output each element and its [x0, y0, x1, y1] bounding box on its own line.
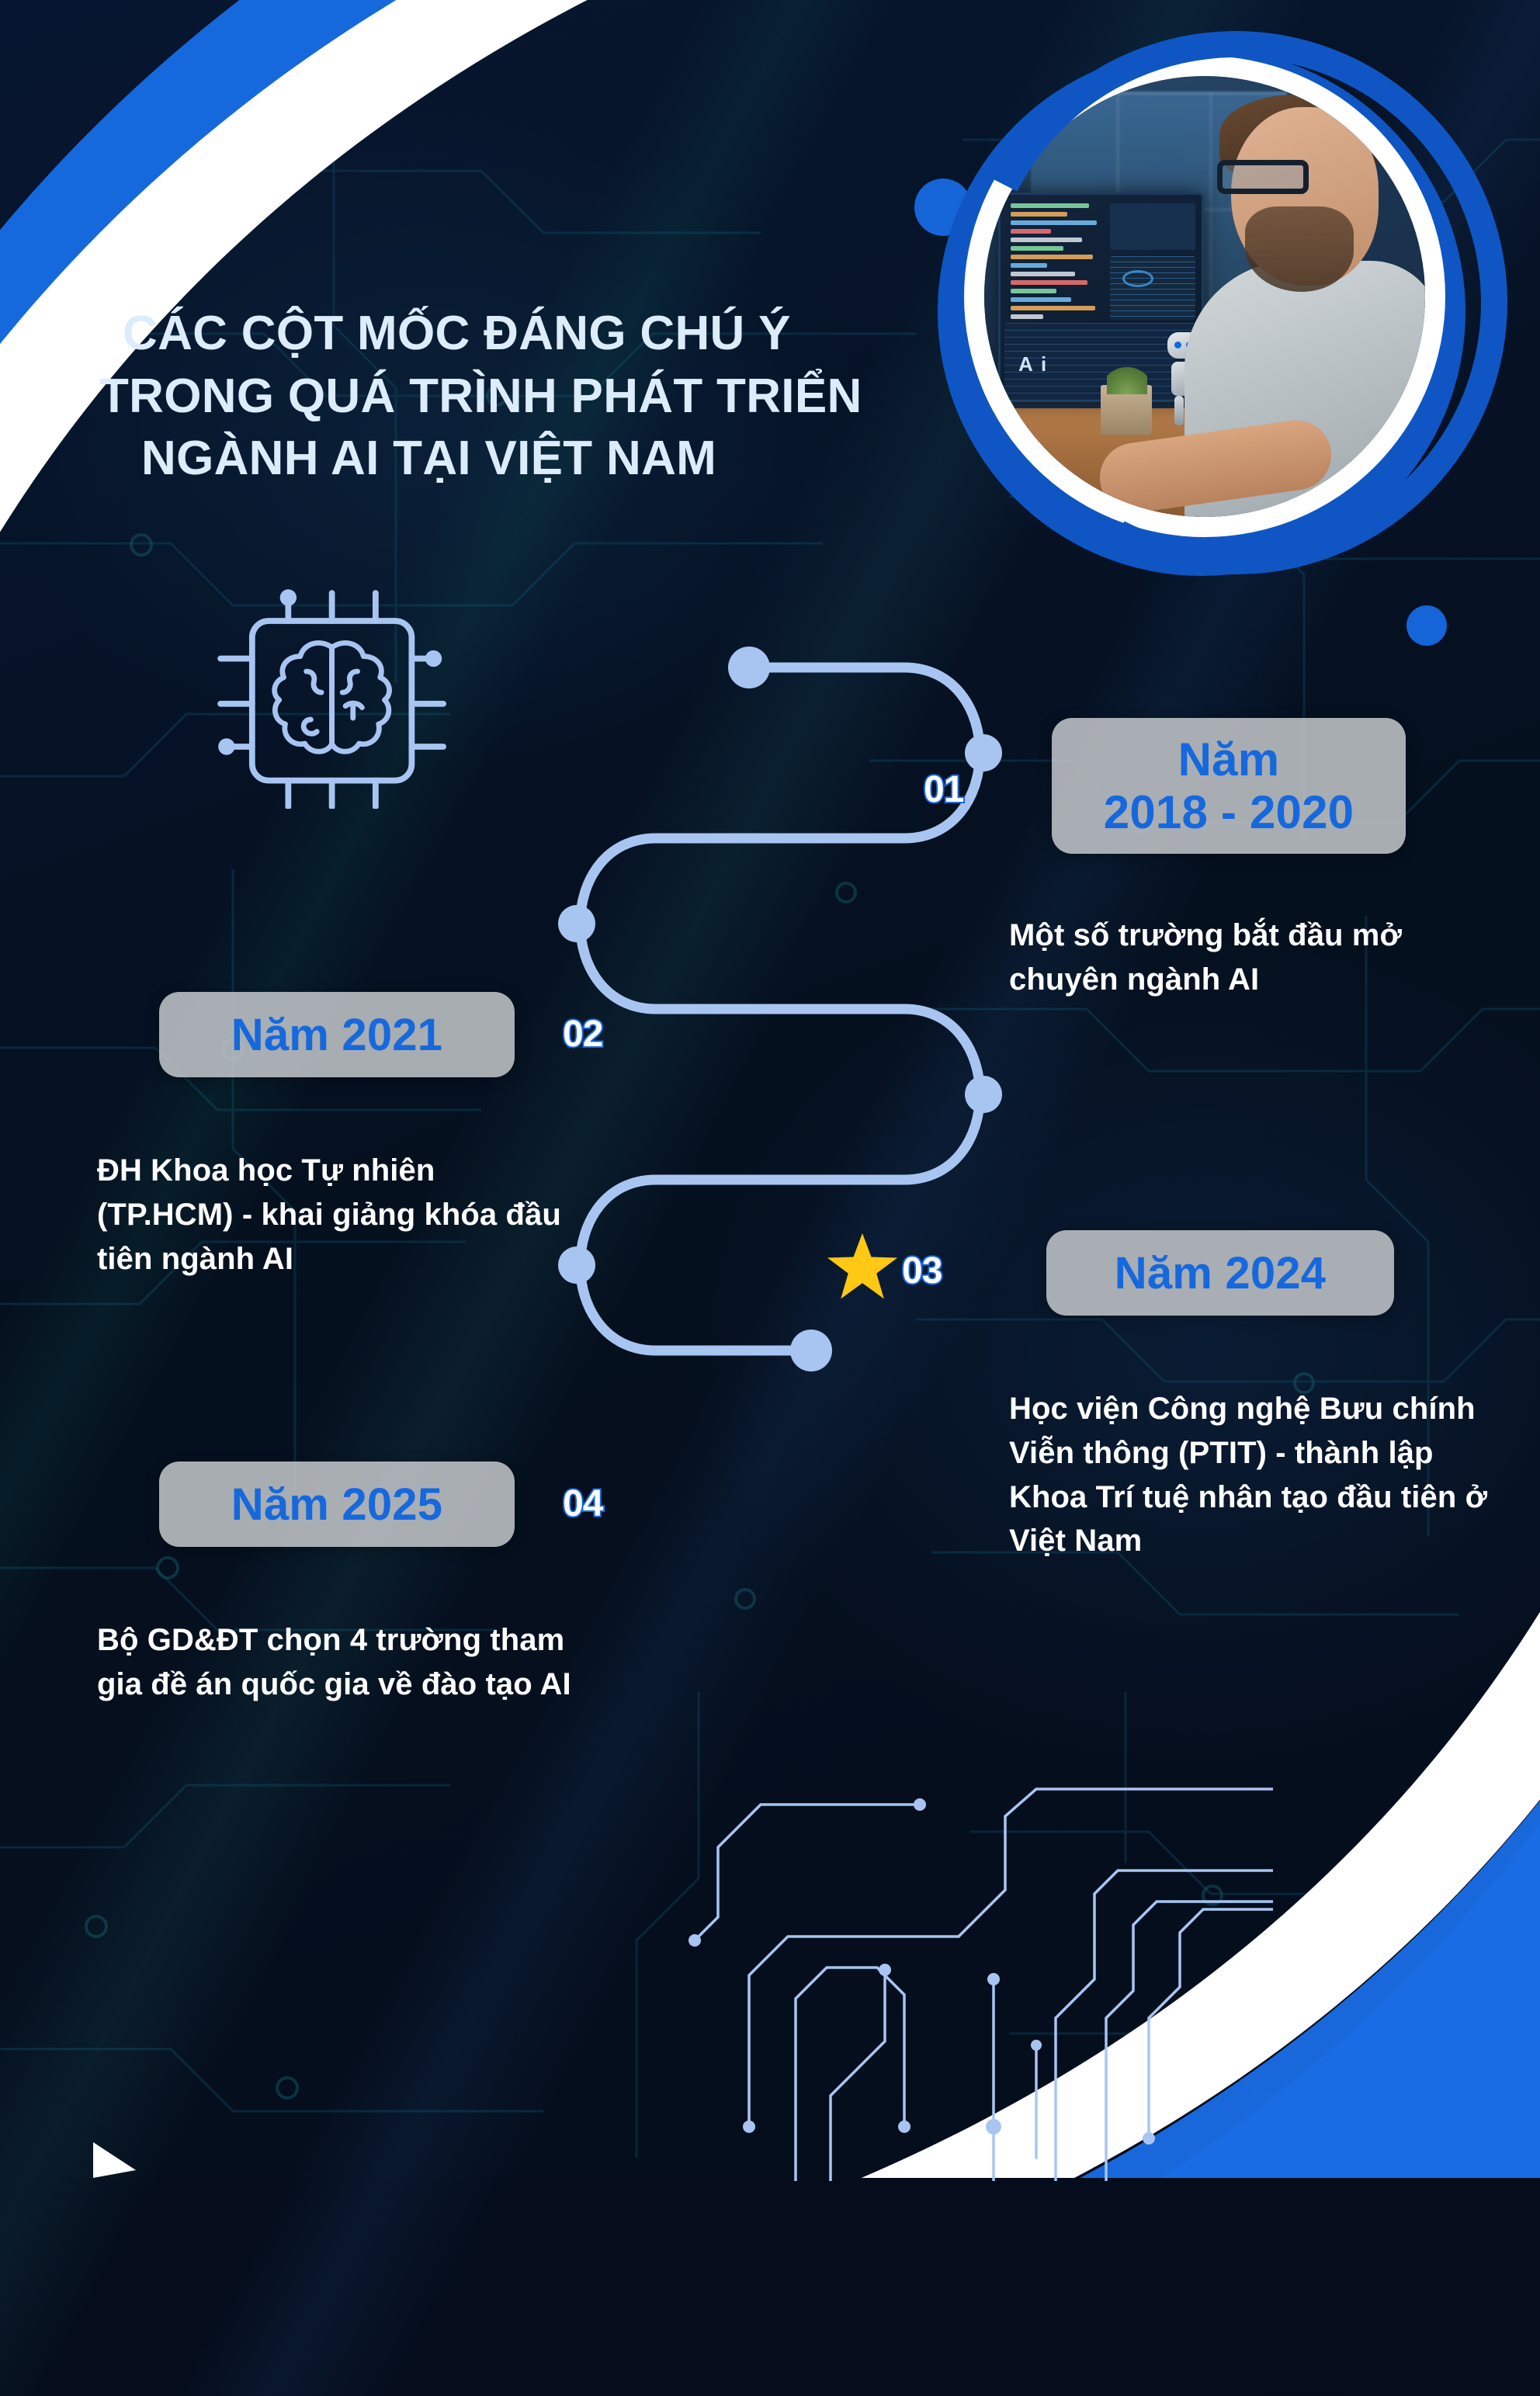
star-icon: [825, 1230, 900, 1305]
title-line-2: TRONG QUÁ TRÌNH PHÁT TRIỂN: [93, 366, 916, 428]
milestone-description-01: Một số trường bắt đầu mở chuyên ngành AI: [1009, 914, 1490, 1002]
year-chip-01-line2: 2018 - 2020: [1104, 786, 1354, 838]
brain-chip-icon: [198, 584, 446, 809]
milestone-description-04: Bộ GD&ĐT chọn 4 trường tham gia đề án qu…: [97, 1618, 578, 1707]
accent-dot-right: [1406, 605, 1447, 646]
page-title: CÁC CỘT MỐC ĐÁNG CHÚ Ý TRONG QUÁ TRÌNH P…: [93, 303, 916, 491]
year-chip-01-line1: Năm: [1104, 733, 1354, 785]
milestone-number-03: 03: [902, 1250, 942, 1292]
milestone-description-03: Học viện Công nghệ Bưu chính Viễn thông …: [1009, 1387, 1490, 1563]
year-chip-03[interactable]: Năm 2024: [1046, 1230, 1394, 1316]
hero-photo: A i: [924, 37, 1514, 581]
year-chip-02[interactable]: Năm 2021: [159, 992, 515, 1077]
milestone-description-02: ĐH Khoa học Tự nhiên (TP.HCM) - khai giả…: [97, 1149, 578, 1281]
milestone-number-04: 04: [563, 1482, 602, 1525]
title-line-1: CÁC CỘT MỐC ĐÁNG CHÚ Ý: [93, 303, 916, 366]
milestone-number-02: 02: [563, 1013, 602, 1056]
milestone-number-01: 01: [924, 768, 963, 811]
year-chip-04[interactable]: Năm 2025: [159, 1462, 515, 1547]
title-line-3: NGÀNH AI TẠI VIỆT NAM: [93, 428, 916, 491]
year-chip-01[interactable]: Năm 2018 - 2020: [1052, 718, 1406, 854]
